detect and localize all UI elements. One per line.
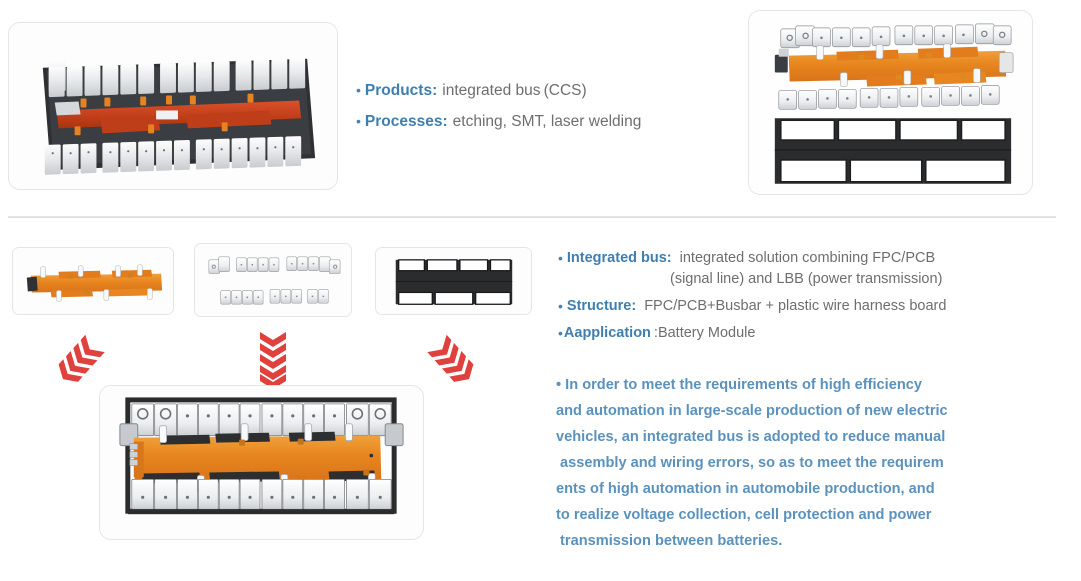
image-card-top-right (748, 10, 1033, 195)
top-text-block: • Products: integrated bus (CCS) • Proce… (356, 82, 716, 144)
bullet-line-products: • Products: integrated bus (CCS) (356, 82, 716, 100)
description-paragraph: • In order to meet the requirements of h… (556, 372, 1076, 554)
right-text-block: • Integrated bus: integrated solution co… (558, 250, 1073, 341)
arrow-group-right (416, 330, 486, 388)
silver-busbar-part-photo (195, 244, 351, 317)
slide-root: • Products: integrated bus (CCS) • Proce… (0, 0, 1081, 581)
section-divider (8, 216, 1056, 218)
label-processes: Processes: (365, 113, 448, 131)
paragraph-line: • In order to meet the requirements of h… (556, 372, 1076, 398)
image-card-assembly (99, 385, 424, 540)
bullet-icon: • (558, 325, 563, 341)
chevron-arrow-down-left-icon (416, 330, 486, 388)
label-products: Products: (365, 82, 437, 100)
value-structure: FPC/PCB+Busbar + plastic wire harness bo… (644, 298, 946, 314)
battery-module-photo (9, 23, 337, 190)
assembled-integrated-bus-photo (100, 386, 423, 540)
label-application: Aapplication (564, 325, 651, 341)
black-harness-board-part-photo (376, 248, 531, 315)
paragraph-line: transmission between batteries. (556, 528, 1076, 554)
value-processes: etching, SMT, laser welding (453, 113, 642, 131)
paragraph-line: vehicles, an integrated bus is adopted t… (556, 424, 1076, 450)
value-products: integrated bus (CCS) (442, 82, 586, 100)
fpc-and-harness-photo (749, 11, 1032, 195)
bullet-line-processes: • Processes: etching, SMT, laser welding (356, 113, 716, 131)
image-card-top-left (8, 22, 338, 190)
paragraph-line: to realize voltage collection, cell prot… (556, 502, 1076, 528)
paragraph-line: ents of high automation in automobile pr… (556, 476, 1076, 502)
bullet-icon: • (356, 82, 361, 98)
value-application: :Battery Module (654, 325, 756, 341)
bullet-line-application: • Aapplication :Battery Module (558, 325, 1073, 341)
image-card-part-busbar (194, 243, 352, 317)
label-integrated-bus: Integrated bus: (567, 250, 672, 266)
bullet-icon: • (356, 113, 361, 129)
bullet-icon: • (558, 298, 563, 314)
image-card-part-fpc (12, 247, 174, 315)
chevron-arrow-down-icon (253, 330, 293, 388)
arrow-group-left (46, 330, 116, 388)
arrow-group-center (253, 330, 293, 388)
image-card-part-harness (375, 247, 532, 315)
paragraph-line: and automation in large-scale production… (556, 398, 1076, 424)
bullet-icon: • (558, 250, 563, 266)
orange-fpc-part-photo (13, 248, 173, 315)
label-structure: Structure: (567, 298, 636, 314)
value-integrated-bus: integrated solution combining FPC/PCB (680, 250, 936, 266)
bullet-line-structure: • Structure: FPC/PCB+Busbar + plastic wi… (558, 298, 1073, 314)
chevron-arrow-down-right-icon (46, 330, 116, 388)
paragraph-line: assembly and wiring errors, so as to mee… (556, 450, 1076, 476)
bullet-line-integrated-bus: • Integrated bus: integrated solution co… (558, 250, 1073, 266)
value-integrated-bus-continuation: (signal line) and LBB (power transmissio… (558, 271, 1073, 287)
